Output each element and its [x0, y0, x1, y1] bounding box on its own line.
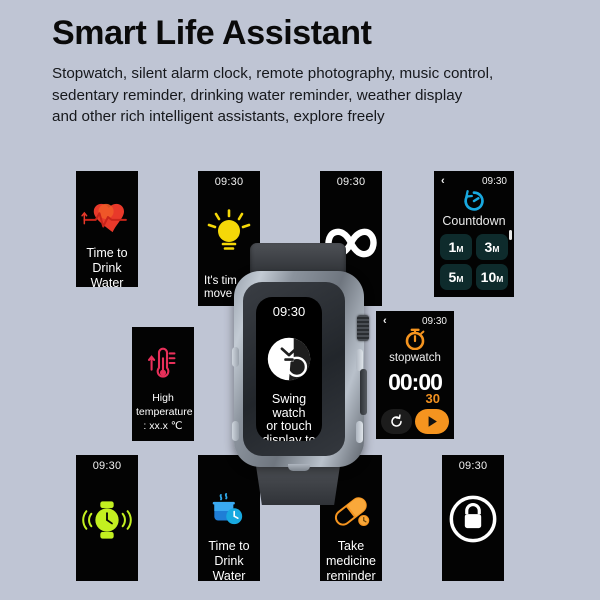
central-smart-watch[interactable]: 09:30 Swing watch or touch: [234, 243, 364, 538]
back-icon[interactable]: ‹: [383, 316, 387, 327]
countdown-preset-3m[interactable]: 3M: [476, 234, 508, 260]
countdown-preset-10m[interactable]: 10M: [476, 264, 508, 290]
countdown-label: Countdown: [434, 214, 514, 228]
stopwatch-millis: 30: [426, 391, 440, 406]
status-time: 09:30: [422, 316, 447, 327]
card-caption: Time to Drink Water: [80, 246, 134, 287]
scrollbar[interactable]: [509, 230, 512, 240]
play-button[interactable]: [415, 409, 449, 434]
stopwatch-icon: [376, 328, 454, 350]
poster-stage: Smart Life Assistant Stopwatch, silent a…: [0, 0, 600, 600]
countdown-preset-5m[interactable]: 5M: [440, 264, 472, 290]
card-countdown[interactable]: ‹ 09:30 Countdown 1M 3M 5M 10M: [434, 171, 514, 297]
thermometer-icon: [132, 343, 194, 383]
card-stopwatch[interactable]: ‹ 09:30 stopwatch 00:00 30: [376, 311, 454, 439]
card-screen-lock[interactable]: 09:30: [442, 455, 504, 581]
card-caption: High temperature : xx.x ℃: [136, 391, 190, 433]
card-heart-drink-water[interactable]: Time to Drink Water: [76, 171, 138, 287]
stopwatch-elapsed: 00:00: [376, 369, 454, 396]
lock-circle-icon: [442, 493, 504, 545]
subtitle-line-3: and other rich intelligent assistants, e…: [52, 106, 572, 128]
status-time: 09:30: [442, 460, 504, 472]
page-subtitle: Stopwatch, silent alarm clock, remote ph…: [52, 63, 572, 128]
card-caption: Take medicine reminder: [324, 539, 378, 581]
watch-case: 09:30 Swing watch or touch: [234, 271, 364, 467]
heart-pulse-icon: [76, 201, 138, 235]
status-time: 09:30: [198, 176, 260, 188]
status-time: 09:30: [256, 304, 322, 319]
stopwatch-controls: [381, 409, 449, 434]
back-icon[interactable]: ‹: [441, 176, 445, 187]
card-silent-alarm[interactable]: 09:30: [76, 455, 138, 581]
status-time: 09:30: [482, 176, 507, 187]
reset-icon: [389, 414, 404, 429]
countdown-preset-list: 1M 3M 5M 10M: [440, 234, 508, 290]
watch-bezel: 09:30 Swing watch or touch: [243, 282, 345, 456]
card-high-temperature[interactable]: High temperature : xx.x ℃: [132, 327, 194, 441]
vibrating-watch-icon: [76, 499, 138, 541]
watch-lug-left-bottom: [232, 421, 239, 441]
status-time: 09:30: [76, 460, 138, 472]
status-time: 09:30: [320, 176, 382, 188]
watch-lug-right-bottom: [356, 421, 363, 443]
subtitle-line-2: sedentary reminder, drinking water remin…: [52, 85, 572, 107]
countdown-preset-1m[interactable]: 1M: [440, 234, 472, 260]
remote-camera-icon: [256, 329, 322, 389]
countdown-timer-icon: [434, 190, 514, 212]
reset-button[interactable]: [381, 409, 412, 434]
watch-message: Swing watch or touch display to photogra…: [258, 393, 320, 441]
watch-screen[interactable]: 09:30 Swing watch or touch: [256, 297, 322, 441]
watch-side-button[interactable]: [360, 369, 367, 415]
subtitle-line-1: Stopwatch, silent alarm clock, remote ph…: [52, 63, 572, 85]
watch-lug-right-top: [356, 349, 363, 371]
watch-bottom-notch: [288, 464, 310, 471]
card-caption: Time to Drink Water: [202, 539, 256, 581]
play-icon: [426, 415, 439, 428]
page-title: Smart Life Assistant: [52, 14, 372, 53]
watch-lug-left-top: [232, 347, 239, 367]
watch-crown[interactable]: [357, 315, 369, 341]
stopwatch-label: stopwatch: [376, 352, 454, 364]
